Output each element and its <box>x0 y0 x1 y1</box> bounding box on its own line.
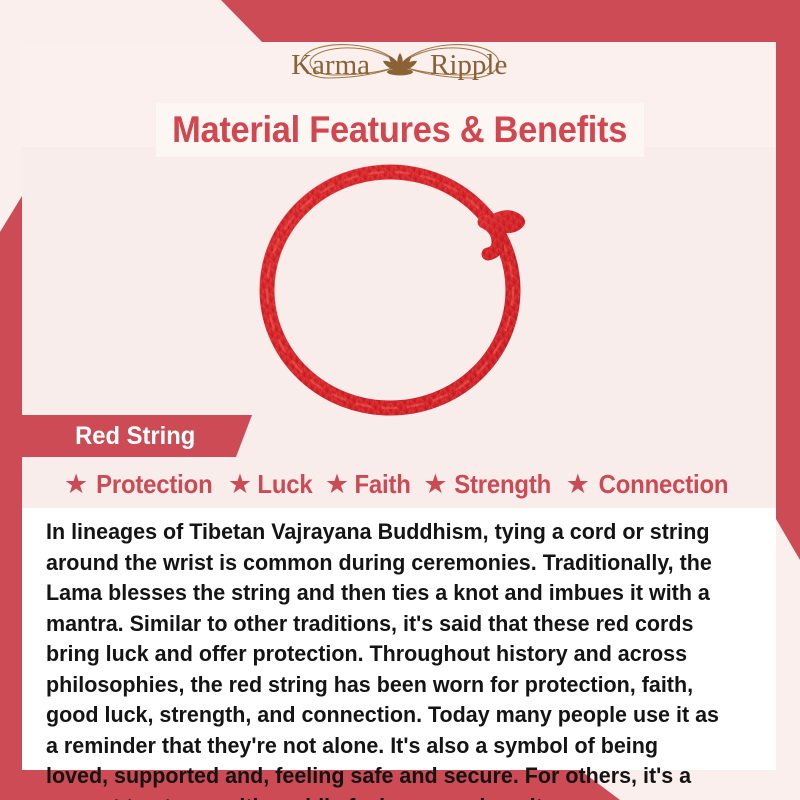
benefit-item-strength: ★ Strength <box>423 469 556 500</box>
red-string-bracelet-image <box>240 152 560 422</box>
brand-logo-graphic: Karma Ripple <box>250 34 550 96</box>
benefit-label: Strength <box>455 469 552 500</box>
star-icon: ★ <box>566 471 590 498</box>
page-title: Material Features & Benefits <box>173 109 628 151</box>
product-image-area <box>22 160 776 420</box>
star-icon: ★ <box>325 471 349 498</box>
benefits-row: ★ Protection ★ Luck ★ Faith ★ Strength ★… <box>22 462 776 506</box>
page-title-band: Material Features & Benefits <box>156 103 644 157</box>
star-icon: ★ <box>423 471 447 498</box>
logo-word-ripple: Ripple <box>430 49 507 81</box>
star-icon: ★ <box>64 471 88 498</box>
star-icon: ★ <box>228 471 252 498</box>
benefit-label: Protection <box>96 469 212 500</box>
brand-logo: Karma Ripple <box>0 34 800 96</box>
poster-root: Karma Ripple Material Features & Benefit… <box>0 0 800 800</box>
benefit-item-connection: ★ Connection <box>566 469 734 500</box>
logo-word-karma: Karma <box>291 49 370 81</box>
benefit-label: Faith <box>355 469 411 500</box>
benefit-item-protection: ★ Protection <box>64 469 218 500</box>
material-label-banner: Red String <box>22 415 252 457</box>
benefit-label: Luck <box>257 469 312 500</box>
benefit-item-faith: ★ Faith <box>325 469 413 500</box>
left-accent-strip <box>0 196 22 800</box>
description-text: In lineages of Tibetan Vajrayana Buddhis… <box>46 517 724 800</box>
description-block: In lineages of Tibetan Vajrayana Buddhis… <box>22 508 776 770</box>
benefit-label: Connection <box>599 469 729 500</box>
material-label: Red String <box>75 422 195 451</box>
benefit-item-luck: ★ Luck <box>228 469 315 500</box>
